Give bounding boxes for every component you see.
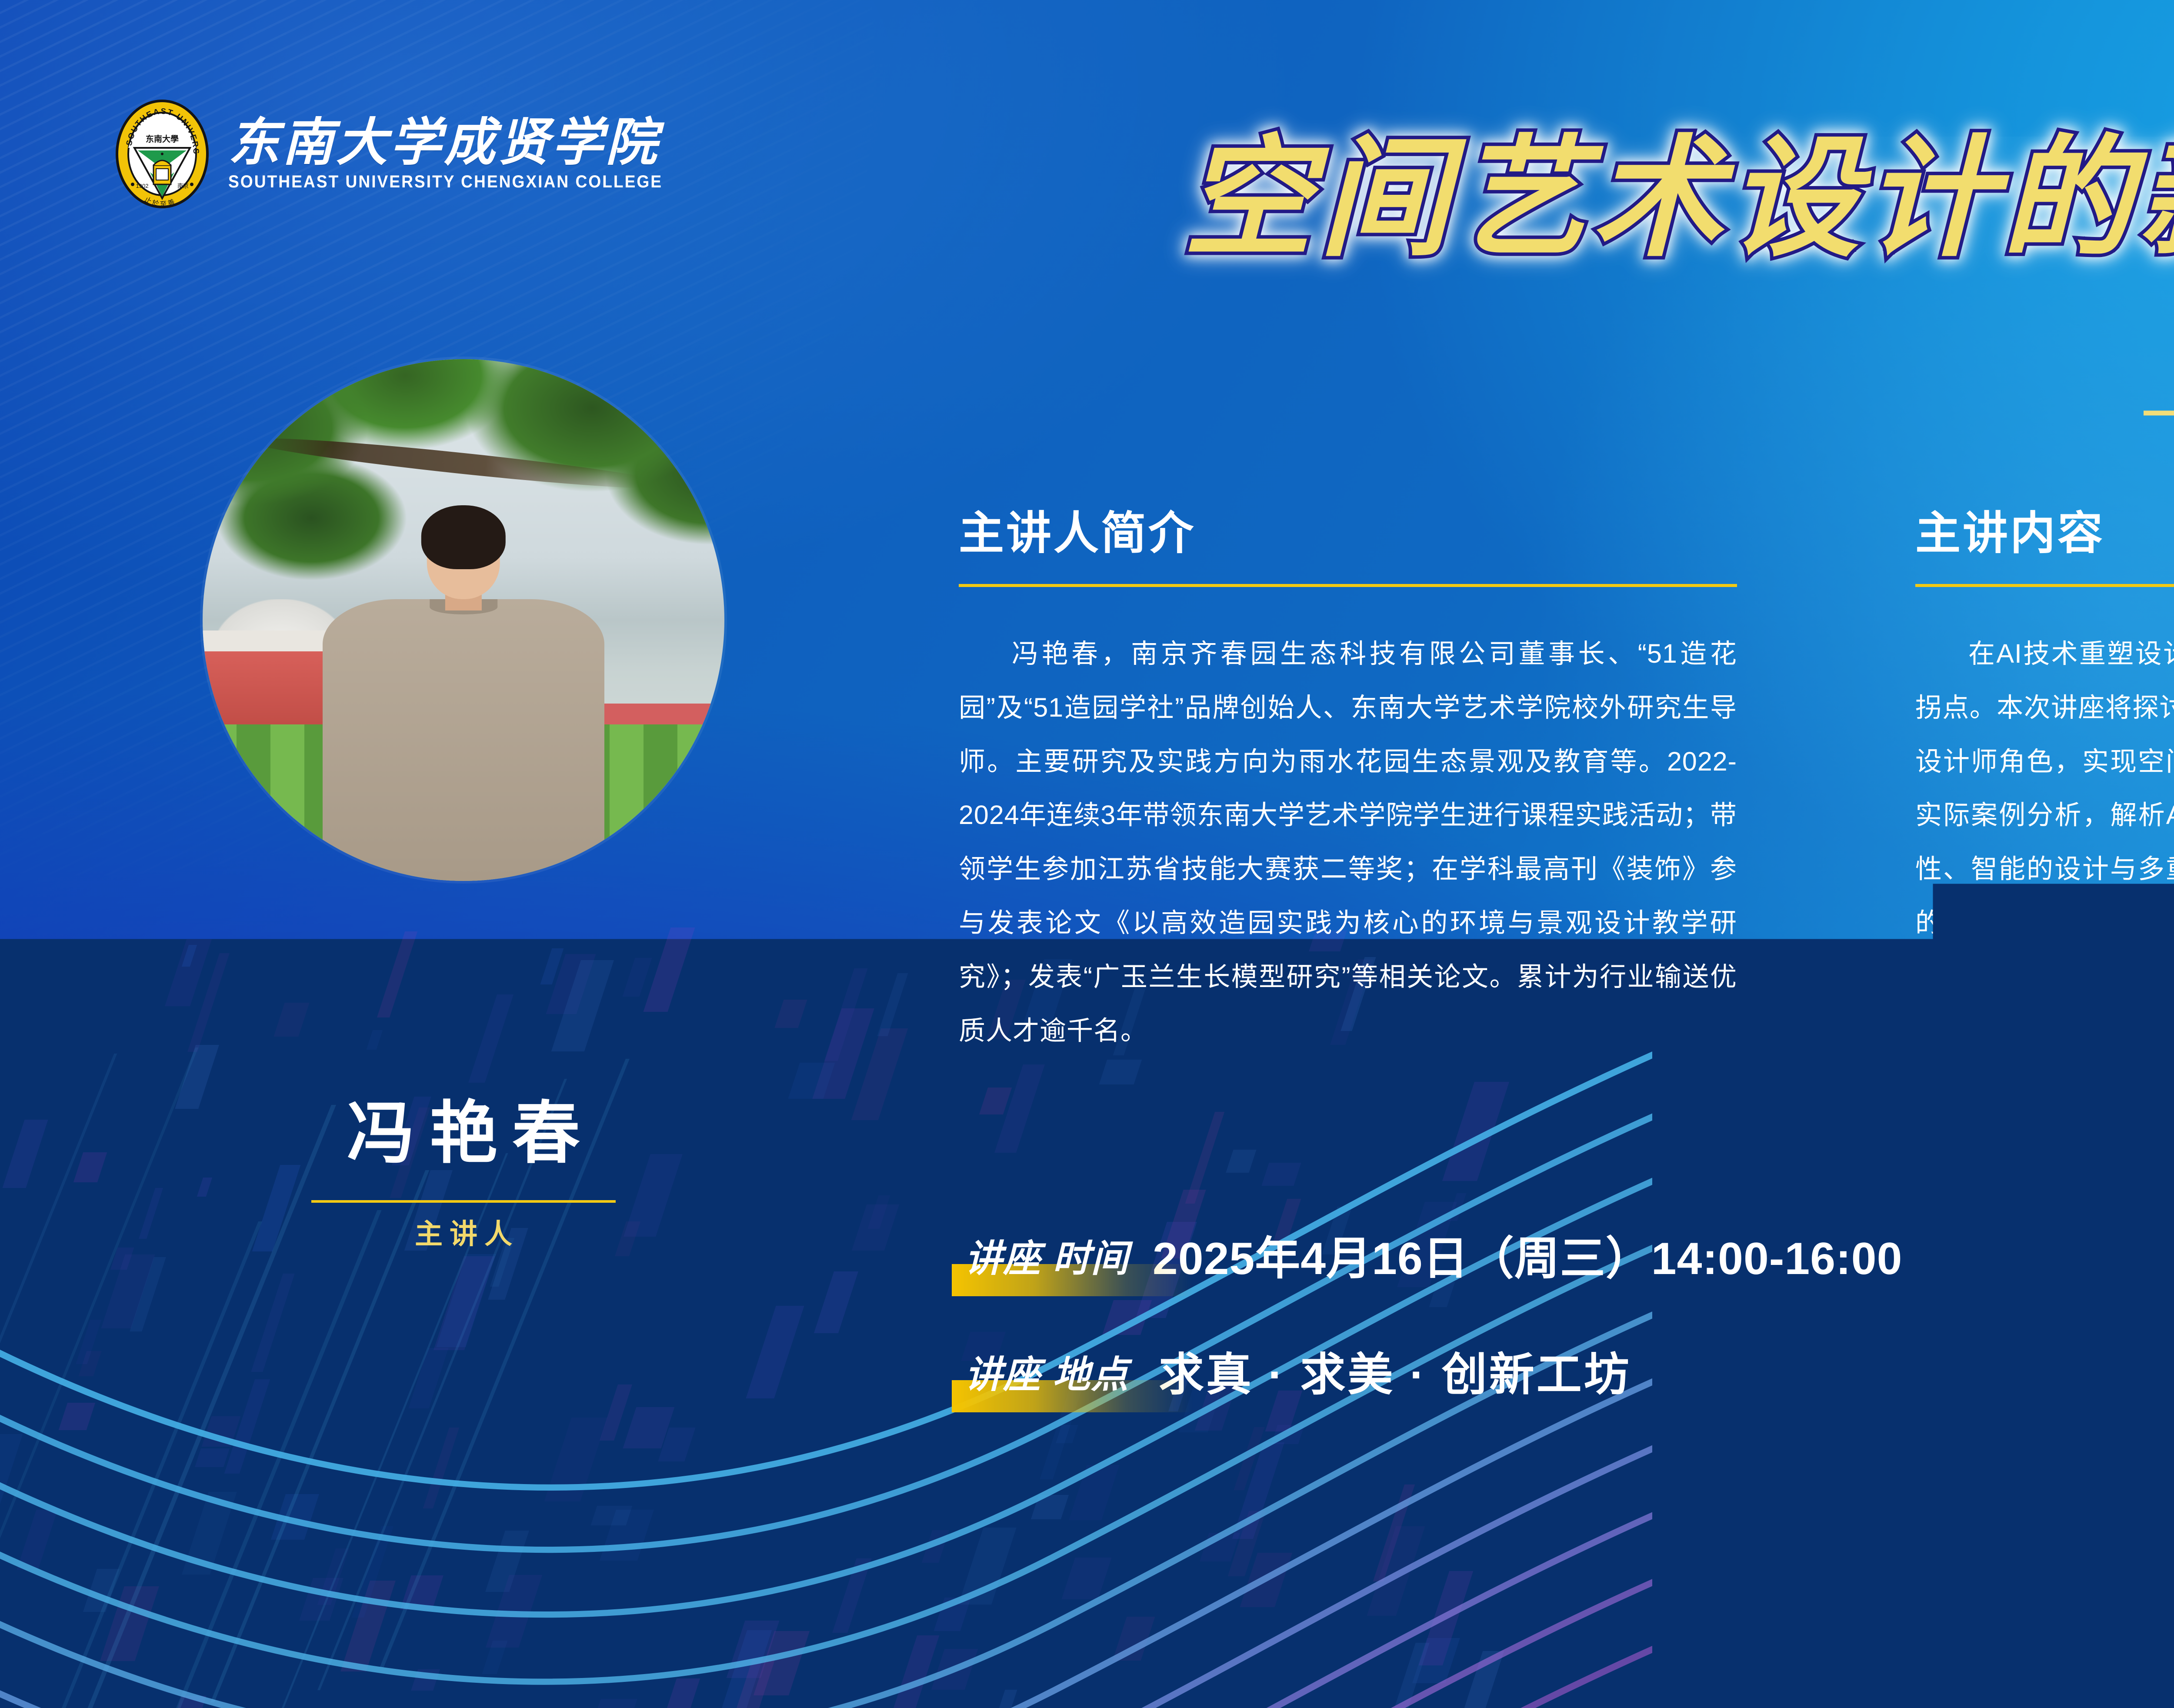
speaker-shirt <box>323 599 604 881</box>
organizer-line: 主办单位：建筑与艺术设计学院 <box>2131 1478 2174 1533</box>
brand-logo-block: 东南大學 1902 南京 SOUTHEAST UNIVERSITY 止於至善 东… <box>115 99 695 209</box>
lecture-poster: 东南大學 1902 南京 SOUTHEAST UNIVERSITY 止於至善 东… <box>0 0 2174 1708</box>
section-heading-bio: 主讲人简介 <box>959 511 1737 556</box>
lecture-time-label: 讲座 时间 <box>963 1238 1133 1280</box>
speaker-figure <box>323 505 604 881</box>
svg-text:1902: 1902 <box>136 183 149 189</box>
speaker-divider <box>311 1200 616 1203</box>
section-speaker-bio: 主讲人简介 冯艳春，南京齐春园生态科技有限公司董事长、“51造花园”及“51造园… <box>959 511 1737 1058</box>
page-subtitle: ——AI赋能“超级个体”时代 <box>935 383 2174 436</box>
speaker-hair <box>421 505 506 569</box>
institution-name-cn: 东南大学成贤学院 <box>228 117 695 169</box>
lecture-place-label: 讲座 地点 <box>963 1354 1133 1396</box>
speaker-portrait <box>203 359 724 881</box>
page-title: 空间艺术设计的新拐点 <box>1183 130 2174 269</box>
title-block: 空间艺术设计的新拐点 <box>935 130 2174 269</box>
lecture-place-row: 讲座 地点 求真 · 求美 · 创新工坊 <box>963 1350 1631 1400</box>
lecture-time-row: 讲座 时间 2025年4月16日（周三）14:00-16:00 <box>963 1234 1902 1284</box>
institution-name-en: SOUTHEAST UNIVERSITY CHENGXIAN COLLEGE <box>228 173 663 190</box>
university-seal-icon: 东南大學 1902 南京 SOUTHEAST UNIVERSITY 止於至善 <box>115 99 209 209</box>
section-body-bio: 冯艳春，南京齐春园生态科技有限公司董事长、“51造花园”及“51造园学社”品牌创… <box>959 627 1737 1058</box>
speaker-role: 主讲人 <box>203 1220 724 1248</box>
lecture-place-value: 求真 · 求美 · 创新工坊 <box>1159 1350 1631 1400</box>
section-body-content: 在AI技术重塑设计行业的浪潮下，空间艺术设计正迎来关键拐点。本次讲座将探讨人工智… <box>1915 627 2174 1004</box>
portrait-scene <box>203 359 724 881</box>
brand-wordmark: 东南大学成贤学院 SOUTHEAST UNIVERSITY CHENGXIAN … <box>228 117 695 190</box>
section-divider-bio <box>959 584 1737 587</box>
section-heading-content: 主讲内容 <box>1915 511 2174 556</box>
lecture-time-value: 2025年4月16日（周三）14:00-16:00 <box>1153 1234 1903 1284</box>
section-divider-content <box>1915 584 2174 587</box>
section-lecture-content: 主讲内容 在AI技术重塑设计行业的浪潮下，空间艺术设计正迎来关键拐点。本次讲座将… <box>1915 511 2174 1004</box>
speaker-name: 冯艳春 <box>203 1100 724 1168</box>
svg-text:东南大學: 东南大學 <box>146 134 179 144</box>
svg-text:南京: 南京 <box>177 183 189 189</box>
